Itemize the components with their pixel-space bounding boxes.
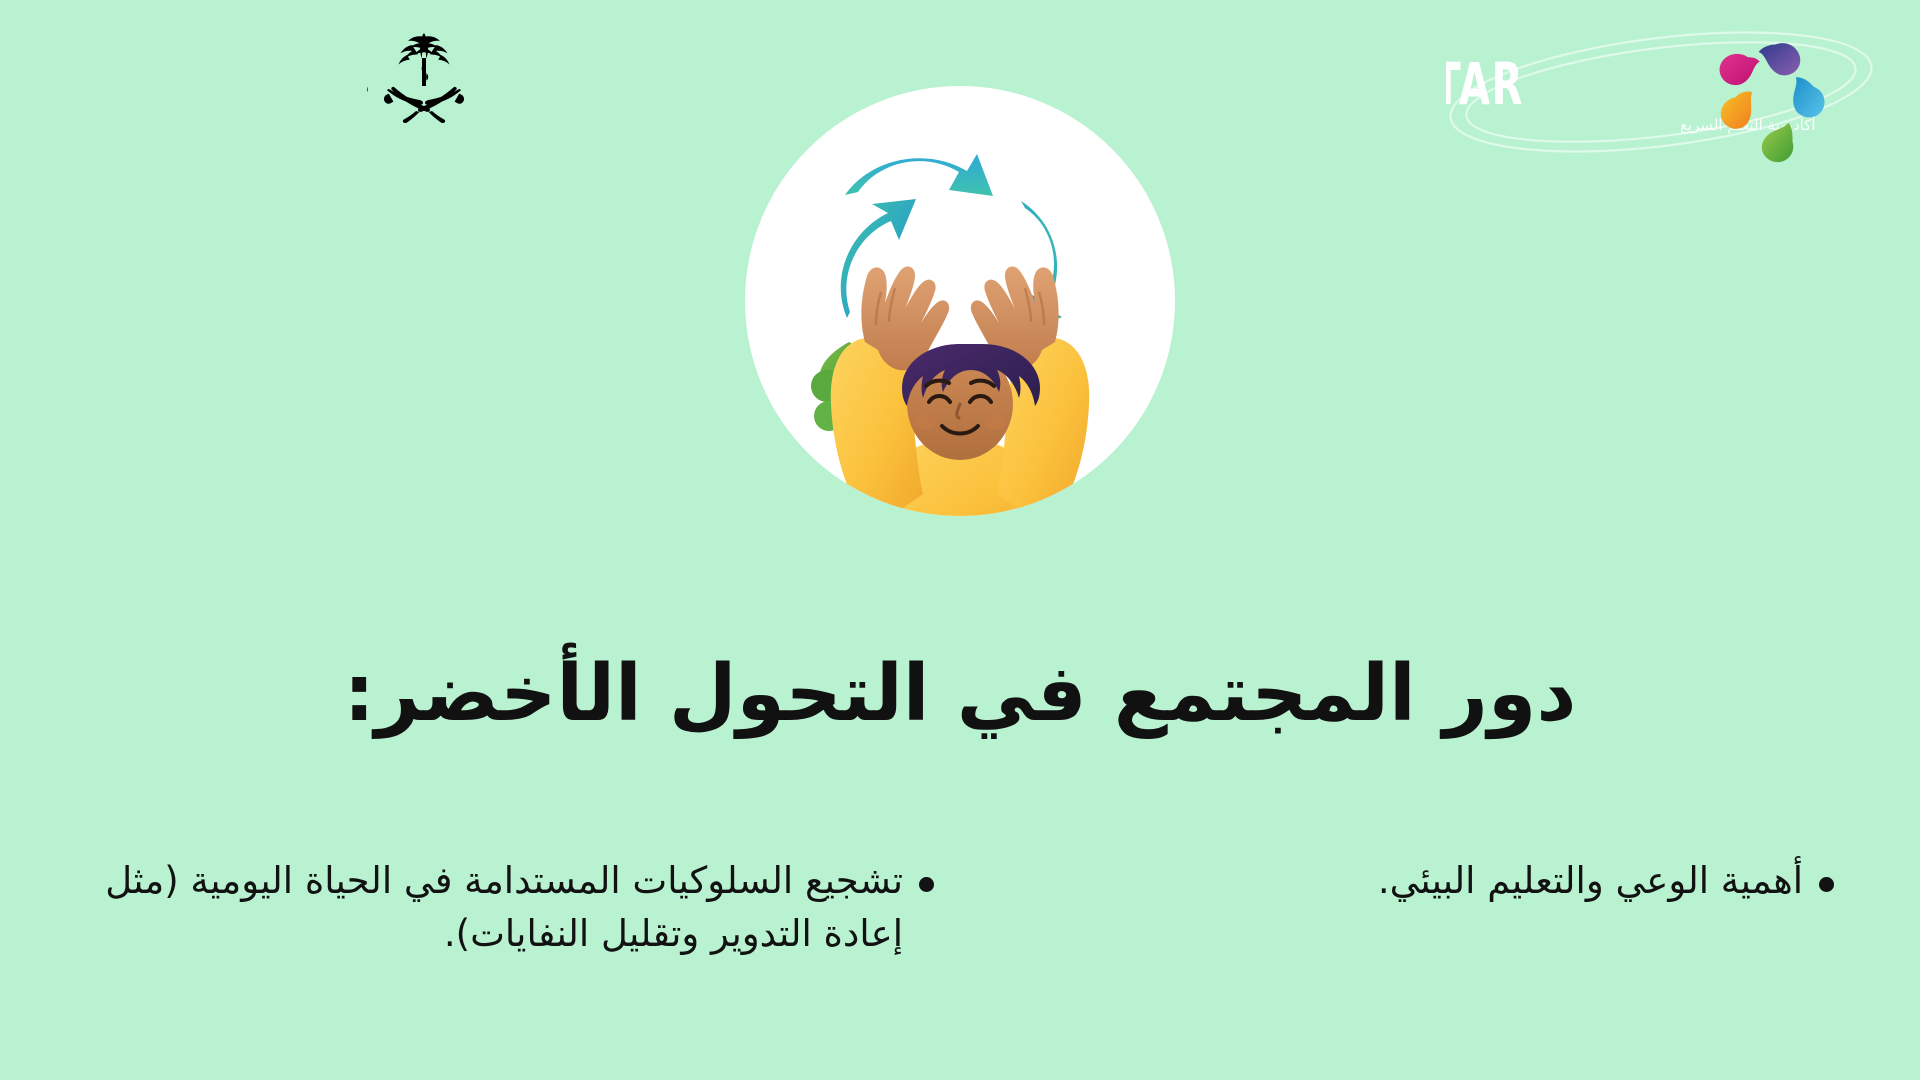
hero-illustration [695, 86, 1225, 536]
qatar-wordmark: QATAR [1446, 50, 1524, 118]
saudi-palm-swords-icon [382, 25, 466, 129]
list-item: أهمية الوعي والتعليم البيئي. [986, 855, 1834, 908]
qatar-academy-logo: QATAR أكاديمية التعلم السريع [1446, 18, 1876, 166]
saudi-arabia-emblem: المملكة العربية السعودية [66, 22, 466, 132]
bullet-list-container: أهمية الوعي والتعليم البيئي. تشجيع السلو… [0, 855, 1920, 960]
presentation-slide: المملكة العربية السعودية QATAR أكاديمية … [0, 0, 1920, 1080]
bullet-column-right: أهمية الوعي والتعليم البيئي. [960, 855, 1860, 960]
bullet-text: أهمية الوعي والتعليم البيئي. [986, 855, 1803, 908]
bullet-dot-icon [919, 877, 934, 892]
bullet-dot-icon [1819, 877, 1834, 892]
saudi-emblem-text-label: المملكة العربية السعودية [364, 53, 368, 108]
list-item: تشجيع السلوكيات المستدامة في الحياة اليو… [86, 855, 934, 960]
bullet-text: تشجيع السلوكيات المستدامة في الحياة اليو… [86, 855, 903, 960]
saudi-emblem-arabic-text: المملكة العربية السعودية [68, 34, 368, 120]
five-petal-star-icon [1720, 43, 1825, 162]
bullet-column-left: تشجيع السلوكيات المستدامة في الحياة اليو… [60, 855, 960, 960]
page-title: دور المجتمع في التحول الأخضر: [0, 648, 1920, 740]
